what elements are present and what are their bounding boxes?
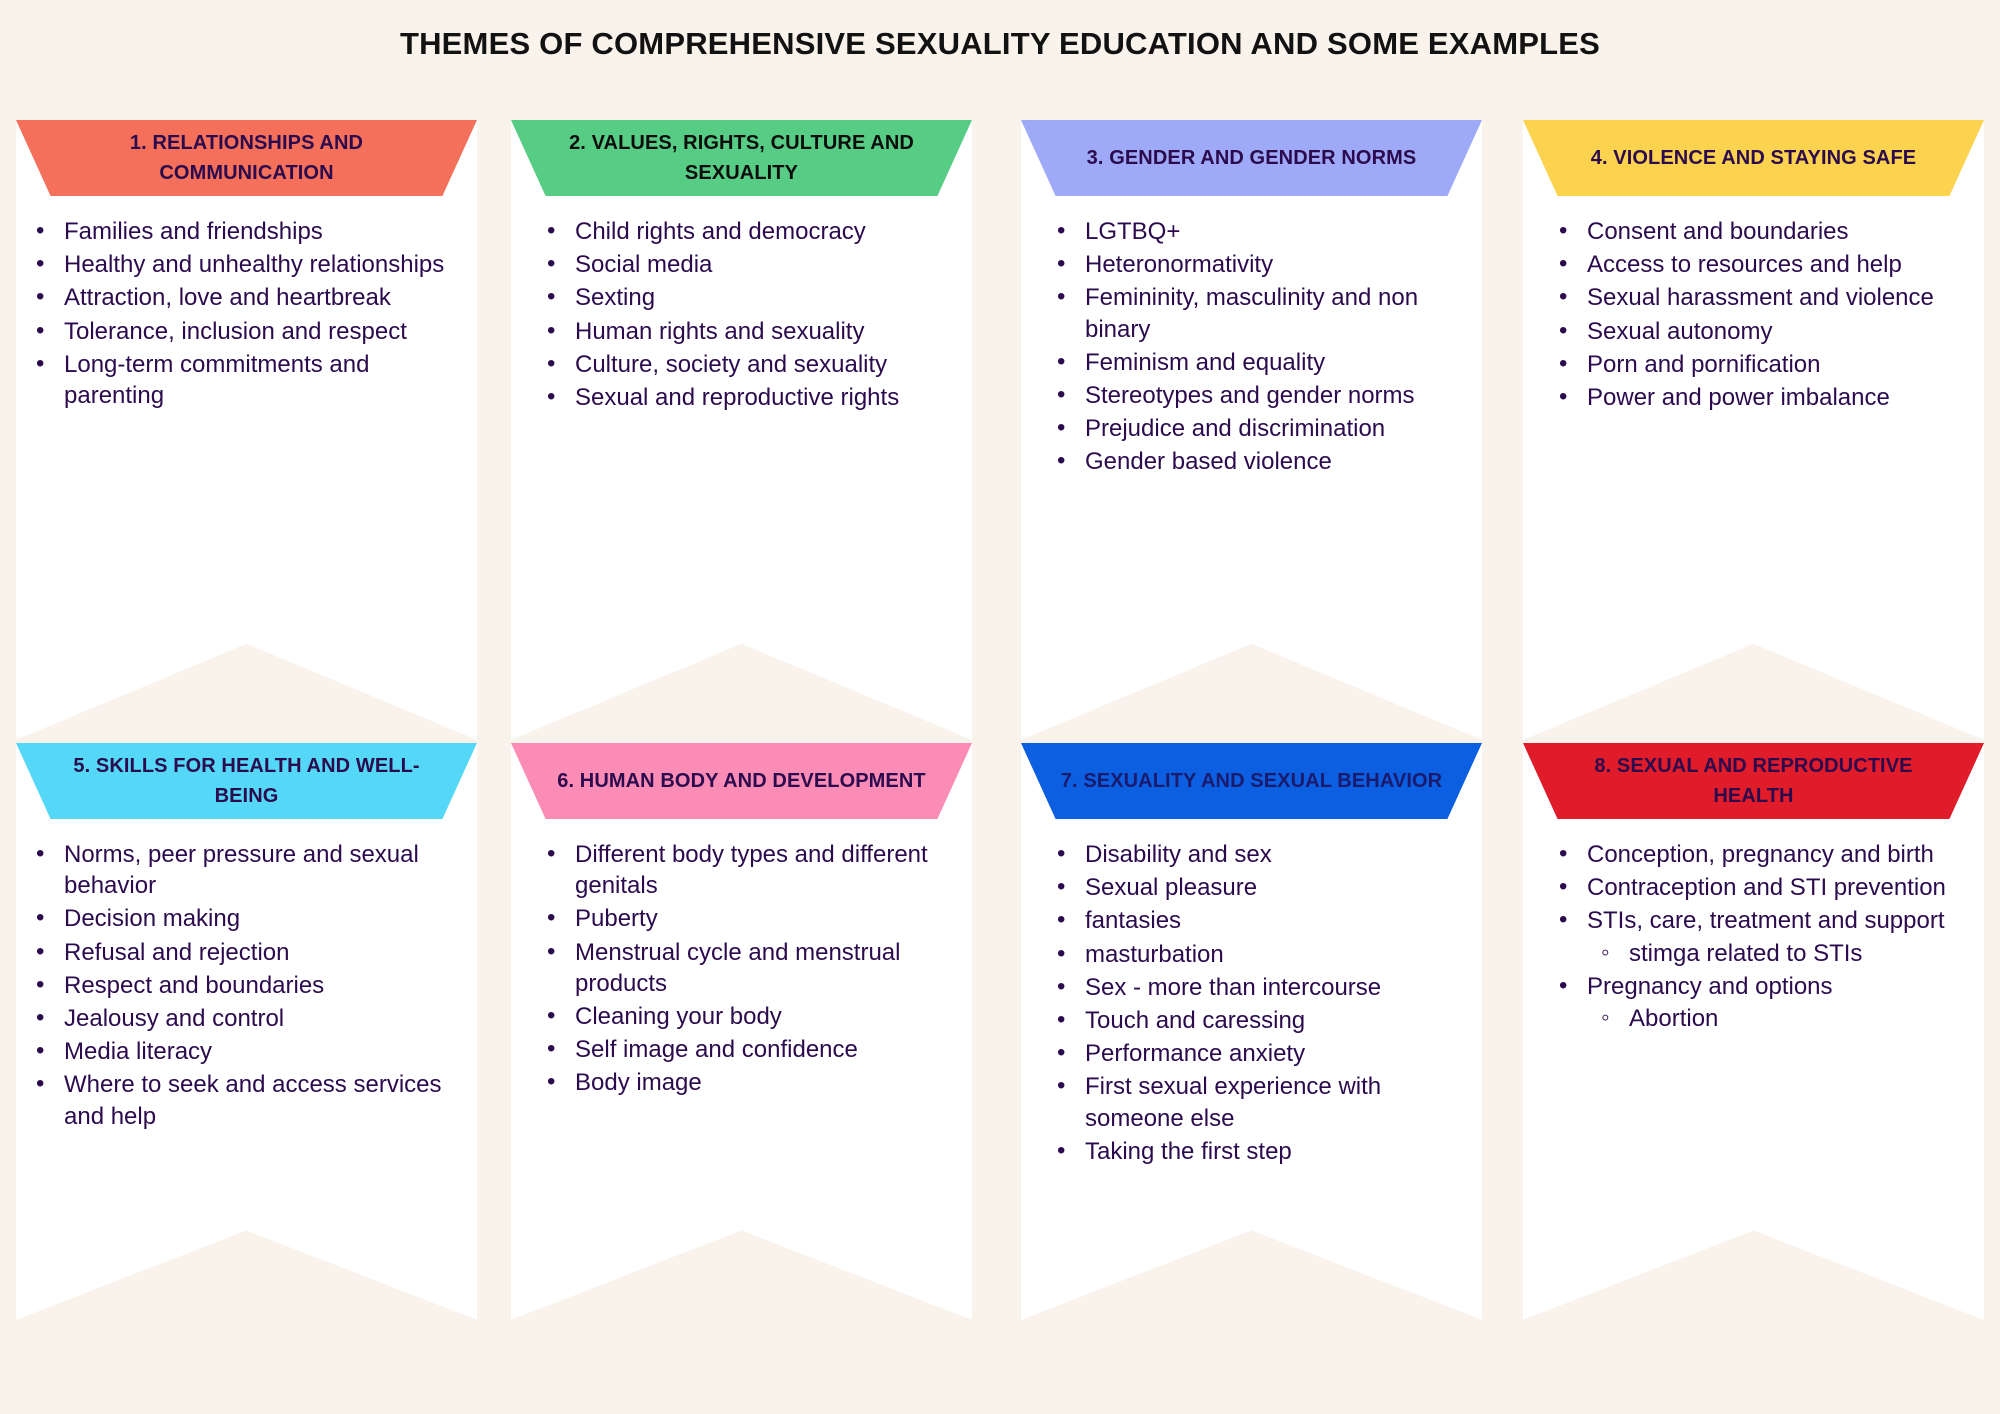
- topic-label: Disability and sex: [1085, 841, 1272, 868]
- topic-label: Sexting: [575, 284, 655, 311]
- topic-label: Different body types and different genit…: [575, 841, 928, 899]
- topic-list: Families and friendshipsHealthy and unhe…: [18, 216, 445, 411]
- theme-banner-7: 7. SEXUALITY AND SEXUAL BEHAVIOR: [1021, 743, 1482, 819]
- topic-item: STIs, care, treatment and supportstimga …: [1541, 905, 1968, 968]
- topic-item: Attraction, love and heartbreak: [18, 282, 445, 313]
- topic-label: Access to resources and help: [1587, 251, 1902, 278]
- infographic-page: THEMES OF COMPREHENSIVE SEXUALITY EDUCAT…: [0, 0, 2000, 1414]
- theme-body-7: Disability and sexSexual pleasurefantasi…: [1021, 839, 1482, 1169]
- topic-list: Different body types and different genit…: [529, 839, 956, 1099]
- topic-label: Culture, society and sexuality: [575, 351, 887, 378]
- topic-label: Child rights and democracy: [575, 218, 866, 245]
- topic-item: Healthy and unhealthy relationships: [18, 249, 445, 280]
- theme-banner-5: 5. SKILLS FOR HEALTH AND WELL-BEING: [16, 743, 477, 819]
- topic-label: Contraception and STI prevention: [1587, 874, 1946, 901]
- theme-body-1: Families and friendshipsHealthy and unhe…: [0, 216, 461, 413]
- topic-label: Jealousy and control: [64, 1005, 284, 1032]
- topic-list: Consent and boundariesAccess to resource…: [1541, 216, 1968, 413]
- theme-heading-5: 5. SKILLS FOR HEALTH AND WELL-BEING: [16, 751, 477, 811]
- topic-label: Respect and boundaries: [64, 972, 324, 999]
- topic-label: Puberty: [575, 905, 658, 932]
- topic-label: Sexual autonomy: [1587, 318, 1772, 345]
- theme-body-2: Child rights and democracySocial mediaSe…: [511, 216, 972, 415]
- topic-item: Different body types and different genit…: [529, 839, 956, 901]
- banner-shape-4: 4. VIOLENCE AND STAYING SAFE: [1523, 120, 1984, 196]
- topic-label: Decision making: [64, 905, 240, 932]
- topic-label: Attraction, love and heartbreak: [64, 284, 391, 311]
- theme-card-8: [1523, 743, 1984, 1360]
- topic-item: Sex - more than intercourse: [1039, 972, 1466, 1003]
- topic-item: Child rights and democracy: [529, 216, 956, 247]
- page-title: THEMES OF COMPREHENSIVE SEXUALITY EDUCAT…: [0, 26, 2000, 62]
- topic-item: Sexual autonomy: [1541, 316, 1968, 347]
- theme-banner-4: 4. VIOLENCE AND STAYING SAFE: [1523, 120, 1984, 196]
- topic-label: Feminism and equality: [1085, 349, 1325, 376]
- topic-label: Prejudice and discrimination: [1085, 415, 1385, 442]
- topic-item: Heteronormativity: [1039, 249, 1466, 280]
- topic-item: masturbation: [1039, 939, 1466, 970]
- theme-banner-6: 6. HUMAN BODY AND DEVELOPMENT: [511, 743, 972, 819]
- topic-label: Sexual harassment and violence: [1587, 284, 1934, 311]
- theme-heading-7: 7. SEXUALITY AND SEXUAL BEHAVIOR: [1027, 766, 1476, 796]
- topic-list: Disability and sexSexual pleasurefantasi…: [1039, 839, 1466, 1167]
- theme-banner-8: 8. SEXUAL AND REPRODUCTIVE HEALTH: [1523, 743, 1984, 819]
- topic-label: Power and power imbalance: [1587, 384, 1890, 411]
- topic-item: Jealousy and control: [18, 1003, 445, 1034]
- theme-body-6: Different body types and different genit…: [511, 839, 972, 1101]
- topic-item: Media literacy: [18, 1036, 445, 1067]
- banner-shape-6: 6. HUMAN BODY AND DEVELOPMENT: [511, 743, 972, 819]
- topic-item: Prejudice and discrimination: [1039, 413, 1466, 444]
- theme-heading-3: 3. GENDER AND GENDER NORMS: [1053, 143, 1451, 173]
- topic-label: Pregnancy and options: [1587, 973, 1833, 1000]
- topic-item: Where to seek and access services and he…: [18, 1069, 445, 1131]
- topic-item: Sexual harassment and violence: [1541, 282, 1968, 313]
- subtopic-item: stimga related to STIs: [1587, 938, 1968, 969]
- topic-label: fantasies: [1085, 907, 1181, 934]
- subtopic-list: stimga related to STIs: [1587, 938, 1968, 969]
- topic-item: Body image: [529, 1067, 956, 1098]
- banner-shape-5: 5. SKILLS FOR HEALTH AND WELL-BEING: [16, 743, 477, 819]
- topic-label: masturbation: [1085, 941, 1224, 968]
- topic-item: Families and friendships: [18, 216, 445, 247]
- topic-label: Refusal and rejection: [64, 939, 289, 966]
- topic-label: Media literacy: [64, 1038, 212, 1065]
- topic-label: Tolerance, inclusion and respect: [64, 318, 407, 345]
- topic-item: LGTBQ+: [1039, 216, 1466, 247]
- topic-label: Human rights and sexuality: [575, 318, 864, 345]
- theme-heading-6: 6. HUMAN BODY AND DEVELOPMENT: [523, 766, 960, 796]
- topic-item: Cleaning your body: [529, 1001, 956, 1032]
- topic-item: Femininity, masculinity and non binary: [1039, 282, 1466, 344]
- topic-item: Porn and pornification: [1541, 349, 1968, 380]
- topic-item: Feminism and equality: [1039, 347, 1466, 378]
- theme-body-8: Conception, pregnancy and birthContracep…: [1523, 839, 1984, 1036]
- topic-item: Performance anxiety: [1039, 1038, 1466, 1069]
- topic-item: Pregnancy and optionsAbortion: [1541, 971, 1968, 1034]
- topic-item: Sexual pleasure: [1039, 872, 1466, 903]
- topic-item: Respect and boundaries: [18, 970, 445, 1001]
- topic-label: Touch and caressing: [1085, 1007, 1305, 1034]
- topic-label: Femininity, masculinity and non binary: [1085, 284, 1418, 342]
- theme-heading-4: 4. VIOLENCE AND STAYING SAFE: [1557, 143, 1950, 173]
- topic-label: First sexual experience with someone els…: [1085, 1073, 1381, 1131]
- topic-item: Access to resources and help: [1541, 249, 1968, 280]
- topic-label: Body image: [575, 1069, 702, 1096]
- topic-label: Porn and pornification: [1587, 351, 1820, 378]
- topic-item: Tolerance, inclusion and respect: [18, 316, 445, 347]
- topic-item: Self image and confidence: [529, 1034, 956, 1065]
- topic-item: Decision making: [18, 903, 445, 934]
- topic-item: Disability and sex: [1039, 839, 1466, 870]
- theme-banner-1: 1. RELATIONSHIPS AND COMMUNICATION: [16, 120, 477, 196]
- theme-banner-2: 2. VALUES, RIGHTS, CULTURE AND SEXUALITY: [511, 120, 972, 196]
- theme-heading-8: 8. SEXUAL AND REPRODUCTIVE HEALTH: [1523, 751, 1984, 811]
- topic-item: Norms, peer pressure and sexual behavior: [18, 839, 445, 901]
- theme-body-4: Consent and boundariesAccess to resource…: [1523, 216, 1984, 415]
- topic-list: Child rights and democracySocial mediaSe…: [529, 216, 956, 413]
- topic-label: Cleaning your body: [575, 1003, 782, 1030]
- topic-label: Stereotypes and gender norms: [1085, 382, 1415, 409]
- topic-label: Sexual pleasure: [1085, 874, 1257, 901]
- banner-shape-8: 8. SEXUAL AND REPRODUCTIVE HEALTH: [1523, 743, 1984, 819]
- topic-item: Culture, society and sexuality: [529, 349, 956, 380]
- topic-label: Where to seek and access services and he…: [64, 1071, 442, 1129]
- topic-item: Stereotypes and gender norms: [1039, 380, 1466, 411]
- theme-body-5: Norms, peer pressure and sexual behavior…: [0, 839, 461, 1134]
- topic-label: Self image and confidence: [575, 1036, 858, 1063]
- topic-item: Sexting: [529, 282, 956, 313]
- topic-label: Menstrual cycle and menstrual products: [575, 939, 900, 997]
- themes-grid: 1. RELATIONSHIPS AND COMMUNICATIONFamili…: [0, 120, 2000, 1360]
- topic-label: Healthy and unhealthy relationships: [64, 251, 444, 278]
- banner-shape-7: 7. SEXUALITY AND SEXUAL BEHAVIOR: [1021, 743, 1482, 819]
- topic-label: Sexual and reproductive rights: [575, 384, 899, 411]
- topic-label: Consent and boundaries: [1587, 218, 1849, 245]
- topic-item: Consent and boundaries: [1541, 216, 1968, 247]
- banner-shape-2: 2. VALUES, RIGHTS, CULTURE AND SEXUALITY: [511, 120, 972, 196]
- topic-label: Long-term commitments and parenting: [64, 351, 369, 409]
- banner-shape-1: 1. RELATIONSHIPS AND COMMUNICATION: [16, 120, 477, 196]
- banner-shape-3: 3. GENDER AND GENDER NORMS: [1021, 120, 1482, 196]
- topic-item: Contraception and STI prevention: [1541, 872, 1968, 903]
- topic-label: Taking the first step: [1085, 1138, 1292, 1165]
- topic-item: Menstrual cycle and menstrual products: [529, 937, 956, 999]
- topic-item: Taking the first step: [1039, 1136, 1466, 1167]
- topic-label: Sex - more than intercourse: [1085, 974, 1381, 1001]
- topic-list: LGTBQ+HeteronormativityFemininity, mascu…: [1039, 216, 1466, 478]
- theme-banner-3: 3. GENDER AND GENDER NORMS: [1021, 120, 1482, 196]
- subtopic-item: Abortion: [1587, 1003, 1968, 1034]
- topic-item: Power and power imbalance: [1541, 382, 1968, 413]
- topic-label: Gender based violence: [1085, 448, 1332, 475]
- topic-item: Touch and caressing: [1039, 1005, 1466, 1036]
- subtopic-list: Abortion: [1587, 1003, 1968, 1034]
- topic-list: Norms, peer pressure and sexual behavior…: [18, 839, 445, 1132]
- topic-item: Gender based violence: [1039, 446, 1466, 477]
- theme-body-3: LGTBQ+HeteronormativityFemininity, mascu…: [1021, 216, 1482, 480]
- topic-label: Conception, pregnancy and birth: [1587, 841, 1934, 868]
- topic-label: Performance anxiety: [1085, 1040, 1305, 1067]
- topic-label: Social media: [575, 251, 712, 278]
- topic-label: Heteronormativity: [1085, 251, 1273, 278]
- topic-label: STIs, care, treatment and support: [1587, 907, 1945, 934]
- topic-label: Families and friendships: [64, 218, 323, 245]
- theme-heading-2: 2. VALUES, RIGHTS, CULTURE AND SEXUALITY: [511, 128, 972, 188]
- topic-label: LGTBQ+: [1085, 218, 1180, 245]
- topic-list: Conception, pregnancy and birthContracep…: [1541, 839, 1968, 1034]
- topic-item: Social media: [529, 249, 956, 280]
- topic-item: First sexual experience with someone els…: [1039, 1071, 1466, 1133]
- topic-item: fantasies: [1039, 905, 1466, 936]
- topic-item: Human rights and sexuality: [529, 316, 956, 347]
- topic-item: Refusal and rejection: [18, 937, 445, 968]
- topic-item: Puberty: [529, 903, 956, 934]
- topic-item: Sexual and reproductive rights: [529, 382, 956, 413]
- theme-heading-1: 1. RELATIONSHIPS AND COMMUNICATION: [16, 128, 477, 188]
- topic-item: Long-term commitments and parenting: [18, 349, 445, 411]
- topic-item: Conception, pregnancy and birth: [1541, 839, 1968, 870]
- topic-label: Norms, peer pressure and sexual behavior: [64, 841, 419, 899]
